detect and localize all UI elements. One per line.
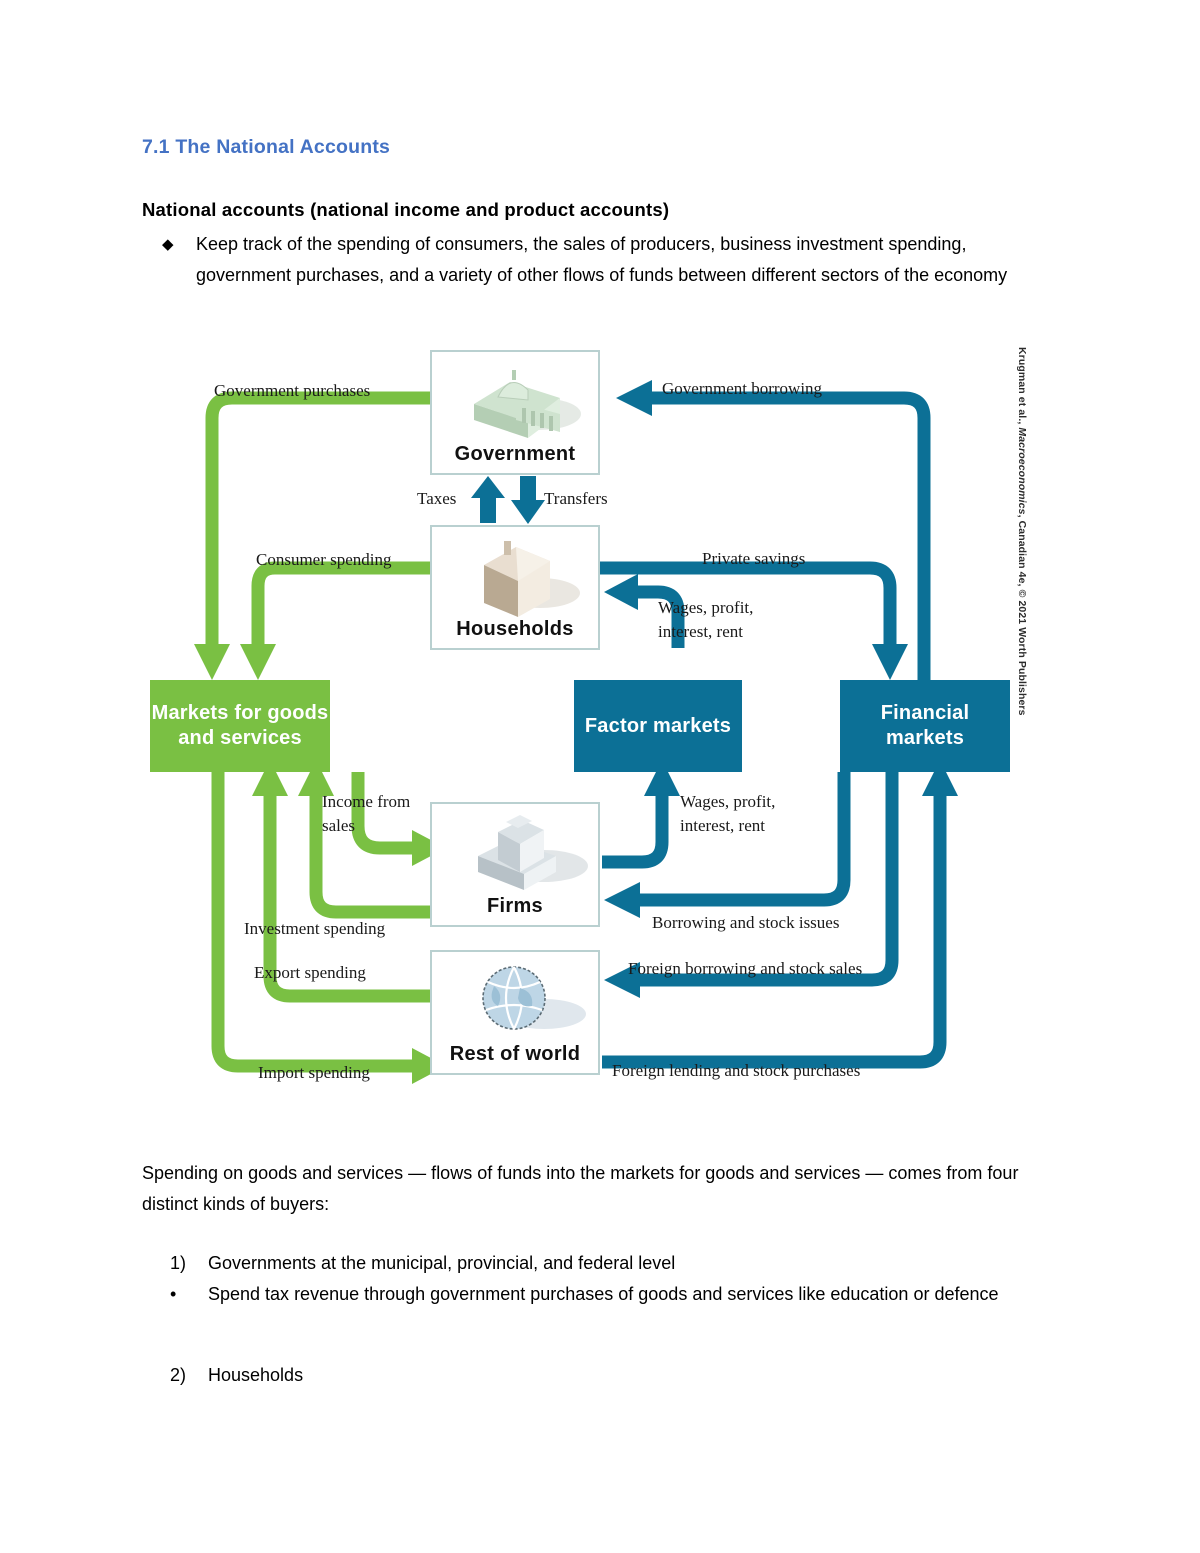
flow-label-government-purchases: Government purchases	[214, 380, 370, 401]
node-label-government: Government	[432, 443, 598, 466]
flow-private-savings-arrowhead	[872, 644, 908, 680]
list-text: Governments at the municipal, provincial…	[208, 1248, 1070, 1279]
flow-label-import-spending: Import spending	[258, 1062, 370, 1083]
list-marker: 1)	[170, 1248, 208, 1279]
flow-wages-from-firms-path	[602, 792, 662, 862]
node-label-rest-of-world: Rest of world	[432, 1043, 598, 1066]
document-page: 7.1 The National Accounts National accou…	[0, 0, 1200, 1553]
flow-label-investment-spending: Investment spending	[244, 918, 385, 939]
node-households: Households	[430, 525, 600, 650]
subheading: National accounts (national income and p…	[142, 199, 669, 221]
node-firms: Firms	[430, 802, 600, 927]
flow-transfers-arrowhead	[511, 500, 545, 524]
node-financial-markets: Financial markets	[840, 680, 1010, 772]
list-text: Households	[208, 1360, 1070, 1391]
flow-borrowing-stock-issues-arrowhead	[604, 882, 640, 918]
bullet-item: ◆ Keep track of the spending of consumer…	[162, 229, 1062, 291]
flow-label-government-borrowing: Government borrowing	[662, 378, 822, 399]
diagram-attribution: Krugman et al., Macroeconomics, Canadian…	[1010, 347, 1028, 697]
list-item: 2) Households	[170, 1360, 1070, 1391]
flow-label-wages-from-firms: Wages, profit, interest, rent	[680, 790, 820, 838]
flow-wages-to-households-arrowhead	[604, 574, 638, 610]
list-item: 1) Governments at the municipal, provinc…	[170, 1248, 1070, 1279]
flow-consumer-spending-arrowhead	[240, 644, 276, 680]
flow-government-borrowing-arrowhead	[616, 380, 652, 416]
circular-flow-diagram: .g{fill:none;stroke:#7AC043;stroke-width…	[140, 340, 1060, 1120]
bullet-glyph: ◆	[162, 229, 196, 260]
flow-label-export-spending: Export spending	[254, 962, 366, 983]
flow-label-foreign-borrowing: Foreign borrowing and stock sales	[628, 958, 862, 979]
flow-label-borrowing-stock-issues: Borrowing and stock issues	[652, 912, 839, 933]
globe-icon	[432, 952, 602, 1047]
list-marker: 2)	[170, 1360, 208, 1391]
flow-label-wages-to-households: Wages, profit, interest, rent	[658, 596, 798, 644]
house-icon	[432, 527, 602, 622]
flow-government-purchases-arrowhead	[194, 644, 230, 680]
office-blocks-icon	[432, 804, 602, 899]
flow-transfers-shaft	[520, 476, 536, 504]
flow-label-transfers: Transfers	[544, 488, 608, 509]
node-label-firms: Firms	[432, 895, 598, 918]
node-government: Government	[430, 350, 600, 475]
list-text: Spend tax revenue through government pur…	[208, 1279, 1070, 1310]
node-rest-of-world: Rest of world	[430, 950, 600, 1075]
node-factor-markets: Factor markets	[574, 680, 742, 772]
flow-label-income-from-sales: Income from sales	[322, 790, 432, 838]
capitol-building-icon	[432, 352, 602, 447]
bullet-text: Keep track of the spending of consumers,…	[196, 229, 1062, 291]
node-label-households: Households	[432, 618, 598, 641]
list-marker: •	[170, 1279, 208, 1310]
body-paragraph: Spending on goods and services — flows o…	[142, 1158, 1062, 1220]
flow-taxes-shaft	[480, 495, 496, 523]
node-markets-for-goods-and-services: Markets for goods and services	[150, 680, 330, 772]
flow-label-foreign-lending: Foreign lending and stock purchases	[612, 1060, 860, 1081]
flow-label-taxes: Taxes	[417, 488, 456, 509]
flow-label-private-savings: Private savings	[702, 548, 805, 569]
list-item: • Spend tax revenue through government p…	[170, 1279, 1070, 1310]
flow-government-purchases-path	[212, 398, 432, 648]
flow-consumer-spending-path	[258, 568, 432, 648]
flow-label-consumer-spending: Consumer spending	[256, 549, 392, 570]
page-title: 7.1 The National Accounts	[142, 136, 390, 159]
flow-taxes-arrowhead	[471, 476, 505, 498]
